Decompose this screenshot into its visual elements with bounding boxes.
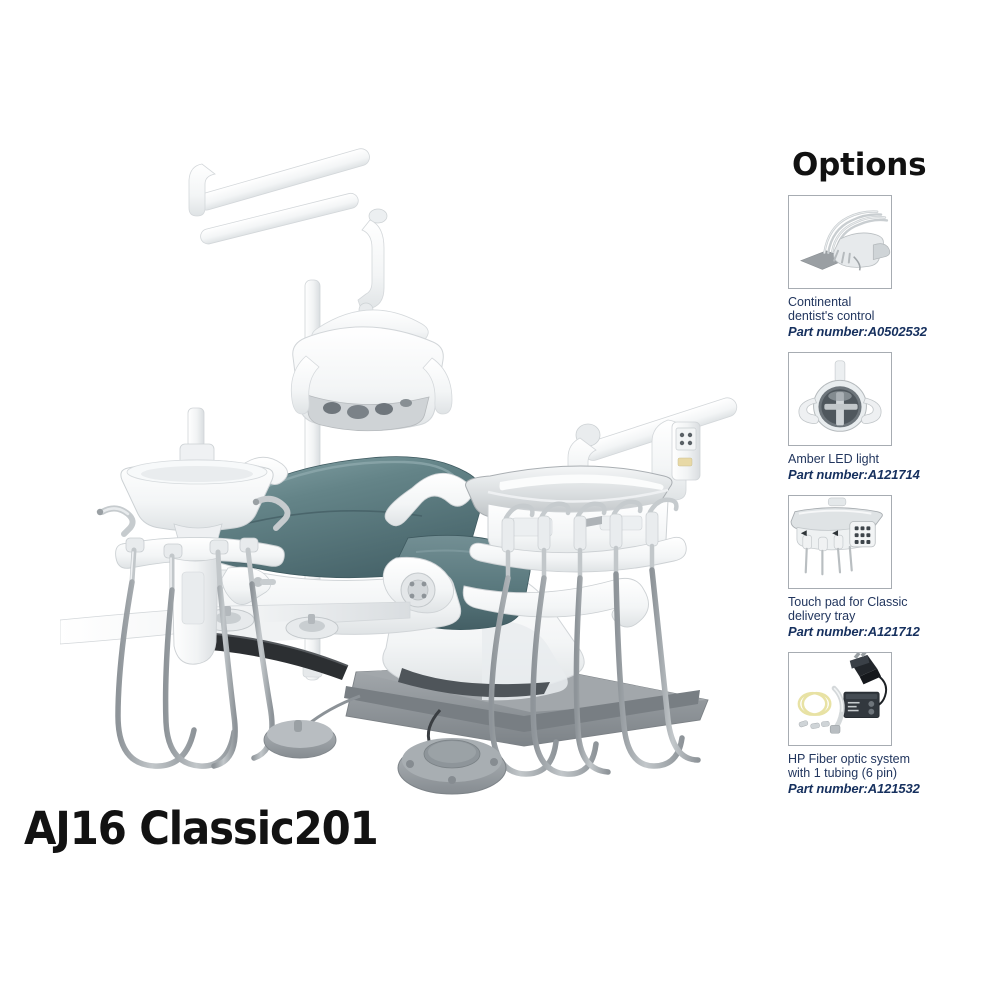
option-caption-line1: Touch pad for Classic — [788, 595, 988, 609]
option-thumbnail[interactable] — [788, 495, 892, 589]
option-caption: HP Fiber optic system with 1 tubing (6 p… — [788, 752, 988, 780]
option-caption: Touch pad for Classic delivery tray — [788, 595, 988, 623]
option-caption-line1: Amber LED light — [788, 452, 988, 466]
amber-led-light-icon — [789, 353, 891, 445]
option-caption-line2: with 1 tubing (6 pin) — [788, 766, 988, 780]
product-photo — [60, 120, 780, 820]
product-title: AJ16 Classic201 — [24, 806, 378, 851]
option-thumbnail[interactable] — [788, 652, 892, 746]
continental-dentist-control-icon — [789, 196, 891, 288]
option-part-number: Part number:A121714 — [788, 467, 988, 482]
option-thumbnail[interactable] — [788, 352, 892, 446]
option-caption: Continental dentist's control — [788, 295, 988, 323]
option-item-continental-dentists-control[interactable]: Continental dentist's control Part numbe… — [788, 195, 988, 339]
option-item-touch-pad[interactable]: Touch pad for Classic delivery tray Part… — [788, 495, 988, 639]
option-caption-line1: Continental — [788, 295, 988, 309]
options-panel: Options — [788, 150, 988, 809]
option-caption-line2: dentist's control — [788, 309, 988, 323]
footrest-bar — [60, 602, 410, 680]
option-caption-line2: delivery tray — [788, 609, 988, 623]
option-item-fiber-optic-system[interactable]: HP Fiber optic system with 1 tubing (6 p… — [788, 652, 988, 796]
option-thumbnail[interactable] — [788, 195, 892, 289]
options-heading: Options — [792, 150, 988, 181]
page-root: AJ16 Classic201 Options — [0, 0, 1000, 1000]
option-part-number: Part number:A121712 — [788, 624, 988, 639]
option-item-amber-led-light[interactable]: Amber LED light Part number:A121714 — [788, 352, 988, 482]
option-part-number: Part number:A121532 — [788, 781, 988, 796]
option-caption-line1: HP Fiber optic system — [788, 752, 988, 766]
fiber-optic-system-icon — [789, 653, 891, 745]
option-part-number: Part number:A0502532 — [788, 324, 988, 339]
option-caption: Amber LED light — [788, 452, 988, 466]
touch-pad-icon — [789, 496, 891, 588]
